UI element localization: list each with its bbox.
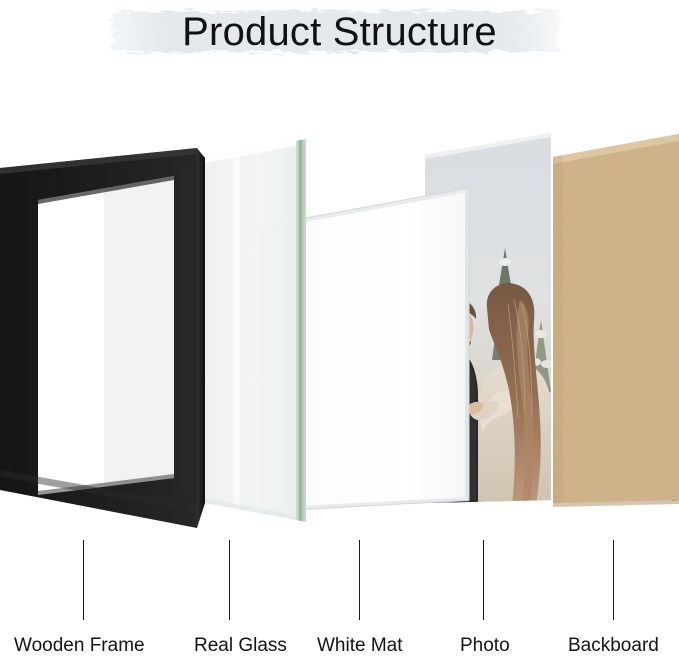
label-photo: Photo [460, 634, 510, 658]
label-backboard: Backboard [568, 634, 659, 658]
label-wooden-frame: Wooden Frame [14, 634, 145, 658]
layer-real-glass [205, 139, 306, 522]
exploded-diagram [0, 0, 679, 560]
layer-backboard [553, 130, 679, 508]
label-white-mat: White Mat [317, 634, 403, 658]
layer-wooden-frame [0, 148, 205, 528]
label-real-glass: Real Glass [194, 634, 287, 658]
